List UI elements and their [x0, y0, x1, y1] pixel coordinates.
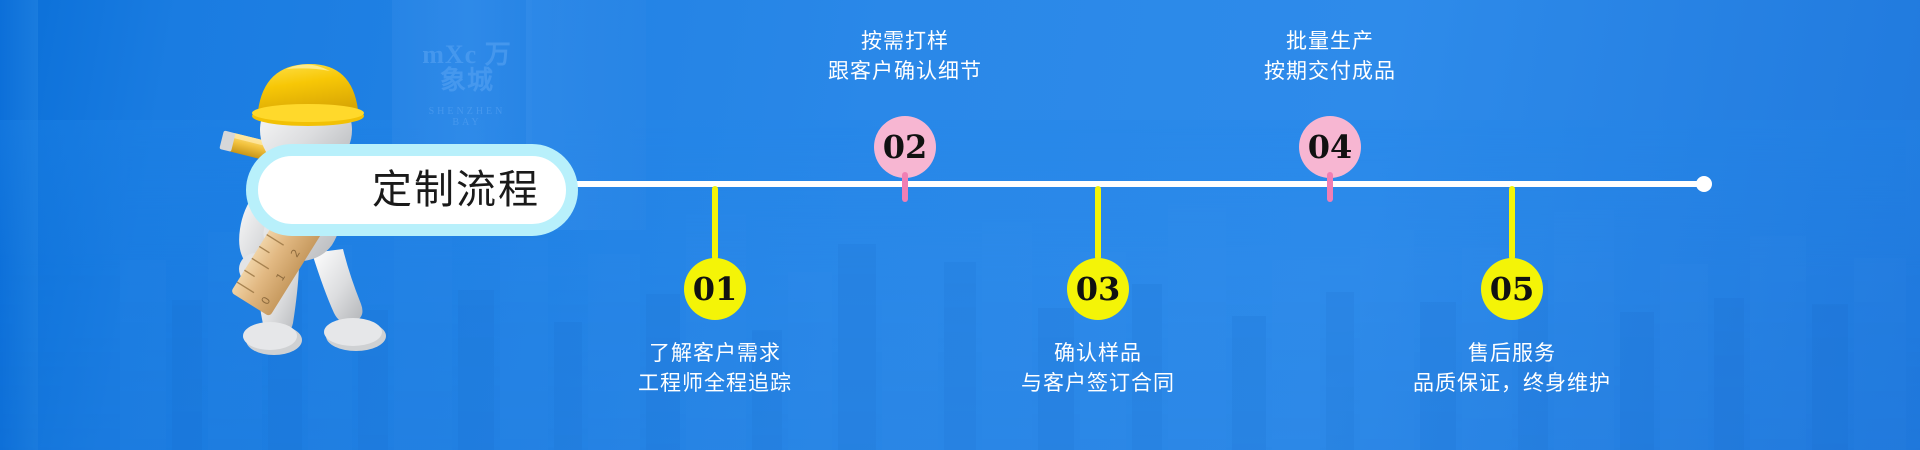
step-number-05: 05 [1481, 258, 1543, 320]
step-caption-01-line-1: 了解客户需求 [565, 338, 865, 368]
step-caption-01: 了解客户需求 工程师全程追踪 [565, 338, 865, 398]
step-caption-03: 确认样品 与客户签订合同 [948, 338, 1248, 398]
page-title: 定制流程 [372, 170, 540, 210]
step-caption-02-line-2: 跟客户确认细节 [755, 56, 1055, 86]
step-number-02: 02 [874, 116, 936, 178]
step-stem-05 [1509, 186, 1515, 260]
step-node-04[interactable]: 04 [1299, 116, 1361, 186]
step-node-01[interactable]: 01 [684, 186, 746, 320]
step-number-01: 01 [684, 258, 746, 320]
step-caption-02: 按需打样 跟客户确认细节 [755, 26, 1055, 86]
process-title-pill: 定制流程 [246, 144, 578, 236]
step-caption-03-line-2: 与客户签订合同 [948, 368, 1248, 398]
step-caption-04-line-2: 按期交付成品 [1180, 56, 1480, 86]
step-stem-04 [1327, 172, 1333, 202]
step-stem-02 [902, 172, 908, 202]
step-number-04: 04 [1299, 116, 1361, 178]
step-node-05[interactable]: 05 [1481, 186, 1543, 320]
step-caption-05-line-1: 售后服务 [1362, 338, 1662, 368]
step-caption-05-line-2: 品质保证，终身维护 [1362, 368, 1662, 398]
step-caption-04-line-1: 批量生产 [1180, 26, 1480, 56]
step-caption-03-line-1: 确认样品 [948, 338, 1248, 368]
step-node-03[interactable]: 03 [1067, 186, 1129, 320]
step-caption-04: 批量生产 按期交付成品 [1180, 26, 1480, 86]
step-stem-01 [712, 186, 718, 260]
timeline-end-dot [1696, 176, 1712, 192]
step-caption-05: 售后服务 品质保证，终身维护 [1362, 338, 1662, 398]
step-number-03: 03 [1067, 258, 1129, 320]
step-stem-03 [1095, 186, 1101, 260]
step-caption-01-line-2: 工程师全程追踪 [565, 368, 865, 398]
step-node-02[interactable]: 02 [874, 116, 936, 186]
step-caption-02-line-1: 按需打样 [755, 26, 1055, 56]
custom-process-banner: mXc 万象城 SHENZHEN BAY [0, 0, 1920, 450]
